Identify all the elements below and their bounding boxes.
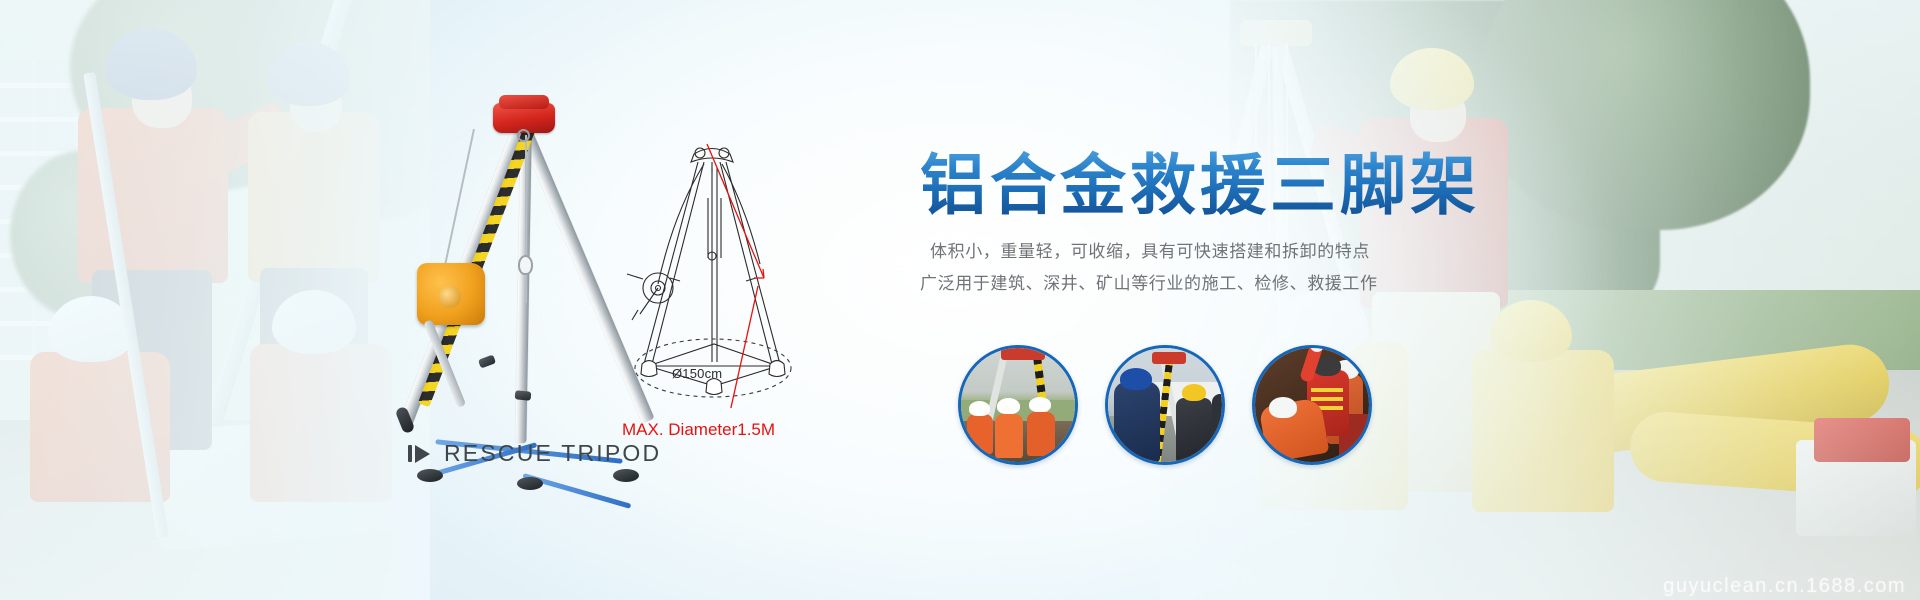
page-title: 铝合金救援三脚架 <box>920 150 1480 221</box>
worker-torso <box>1212 394 1225 464</box>
rubber-foot <box>417 469 443 482</box>
gallery-item-tunnel-rescue[interactable] <box>1252 345 1372 465</box>
helmet-icon <box>1182 384 1206 401</box>
play-triangle-icon <box>408 445 430 463</box>
tunnel-rescue-photo <box>1255 348 1369 462</box>
helmet-icon <box>969 401 990 416</box>
worker-torso <box>967 414 993 454</box>
tripod-head-prop <box>1001 348 1045 360</box>
winch-hub <box>439 286 461 308</box>
gallery-item-well-rescue[interactable] <box>958 345 1078 465</box>
helmet-icon <box>1269 397 1297 418</box>
site-training-photo <box>1108 348 1222 462</box>
background-photo-left <box>0 0 430 600</box>
rescue-tripod-text: RESCUE TRIPOD <box>444 440 661 467</box>
worker-torso <box>1114 382 1160 462</box>
tripod-head-cap <box>499 95 549 109</box>
eyebolt-ring-icon <box>517 129 530 142</box>
worker-torso <box>1176 398 1212 462</box>
well-rescue-photo <box>961 348 1075 462</box>
banner-copy-block: 铝合金救援三脚架 体积小，重量轻，可收缩，具有可快速搭建和拆卸的特点 广泛用于建… <box>920 150 1480 300</box>
steel-cable <box>525 135 527 303</box>
worker-torso <box>995 414 1023 458</box>
subtitle-line-1: 体积小，重量轻，可收缩，具有可快速搭建和拆卸的特点 <box>920 237 1480 268</box>
rescue-tripod-label: RESCUE TRIPOD <box>408 440 661 467</box>
tripod-head-prop <box>1152 352 1186 364</box>
rubber-foot <box>517 477 543 490</box>
subtitle-line-2: 广泛用于建筑、深井、矿山等行业的施工、检修、救援工作 <box>920 269 1480 300</box>
helmet-icon <box>1029 397 1051 412</box>
play-icon-triangle <box>415 445 430 463</box>
helmet-icon <box>997 398 1020 414</box>
pulley-carabiner-icon <box>518 255 533 275</box>
max-diameter-label: MAX. Diameter1.5M <box>622 420 775 440</box>
rubber-foot <box>613 469 639 482</box>
leg-lock-clamp <box>515 390 532 401</box>
helmet-icon <box>1120 368 1152 390</box>
product-banner: Ø150cm MAX. Diameter1.5M RESCUE TRIPOD 铝… <box>0 0 1920 600</box>
leg-lock-clamp <box>478 355 496 369</box>
photo-gallery <box>958 345 1372 465</box>
technical-line-diagram: Ø150cm MAX. Diameter1.5M <box>612 138 812 458</box>
gallery-item-site-training[interactable] <box>1105 345 1225 465</box>
diameter-label: Ø150cm <box>672 366 722 381</box>
play-icon-bar <box>408 445 412 462</box>
fade-overlay <box>0 0 430 600</box>
worker-torso <box>1027 412 1055 456</box>
